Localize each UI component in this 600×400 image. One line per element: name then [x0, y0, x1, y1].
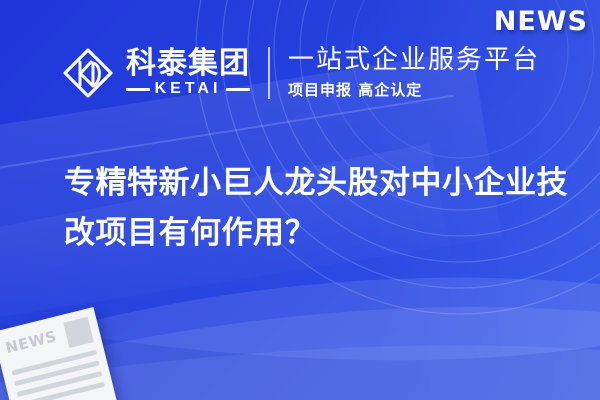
ketai-diamond-monogram-icon: [62, 47, 114, 99]
brand-name-cn: 科泰集团: [126, 49, 250, 80]
wordmark-dash-right: [226, 88, 250, 91]
tagline-sub: 项目申报 高企认定: [288, 79, 540, 100]
newspaper-illustration: NEWS: [0, 307, 120, 400]
news-badge: NEWS: [494, 6, 588, 37]
tagline-main: 一站式企业服务平台: [288, 46, 540, 76]
tagline-block: 一站式企业服务平台 项目申报 高企认定: [288, 46, 540, 100]
news-banner: NEWS 科泰集团: [0, 0, 600, 400]
page-title: 专精特新小巨人龙头股对中小企业技改项目有何作用？: [64, 158, 569, 258]
brand-wordmark: 科泰集团 KETAI: [126, 49, 250, 98]
brand-name-en: KETAI: [150, 81, 227, 97]
brand-name-en-row: KETAI: [126, 81, 250, 97]
wordmark-dash-left: [126, 88, 150, 91]
brand-logo[interactable]: 科泰集团 KETAI: [62, 47, 250, 99]
banner-header: 科泰集团 KETAI 一站式企业服务平台 项目申报 高企认定: [0, 38, 600, 108]
header-divider: [268, 47, 270, 99]
